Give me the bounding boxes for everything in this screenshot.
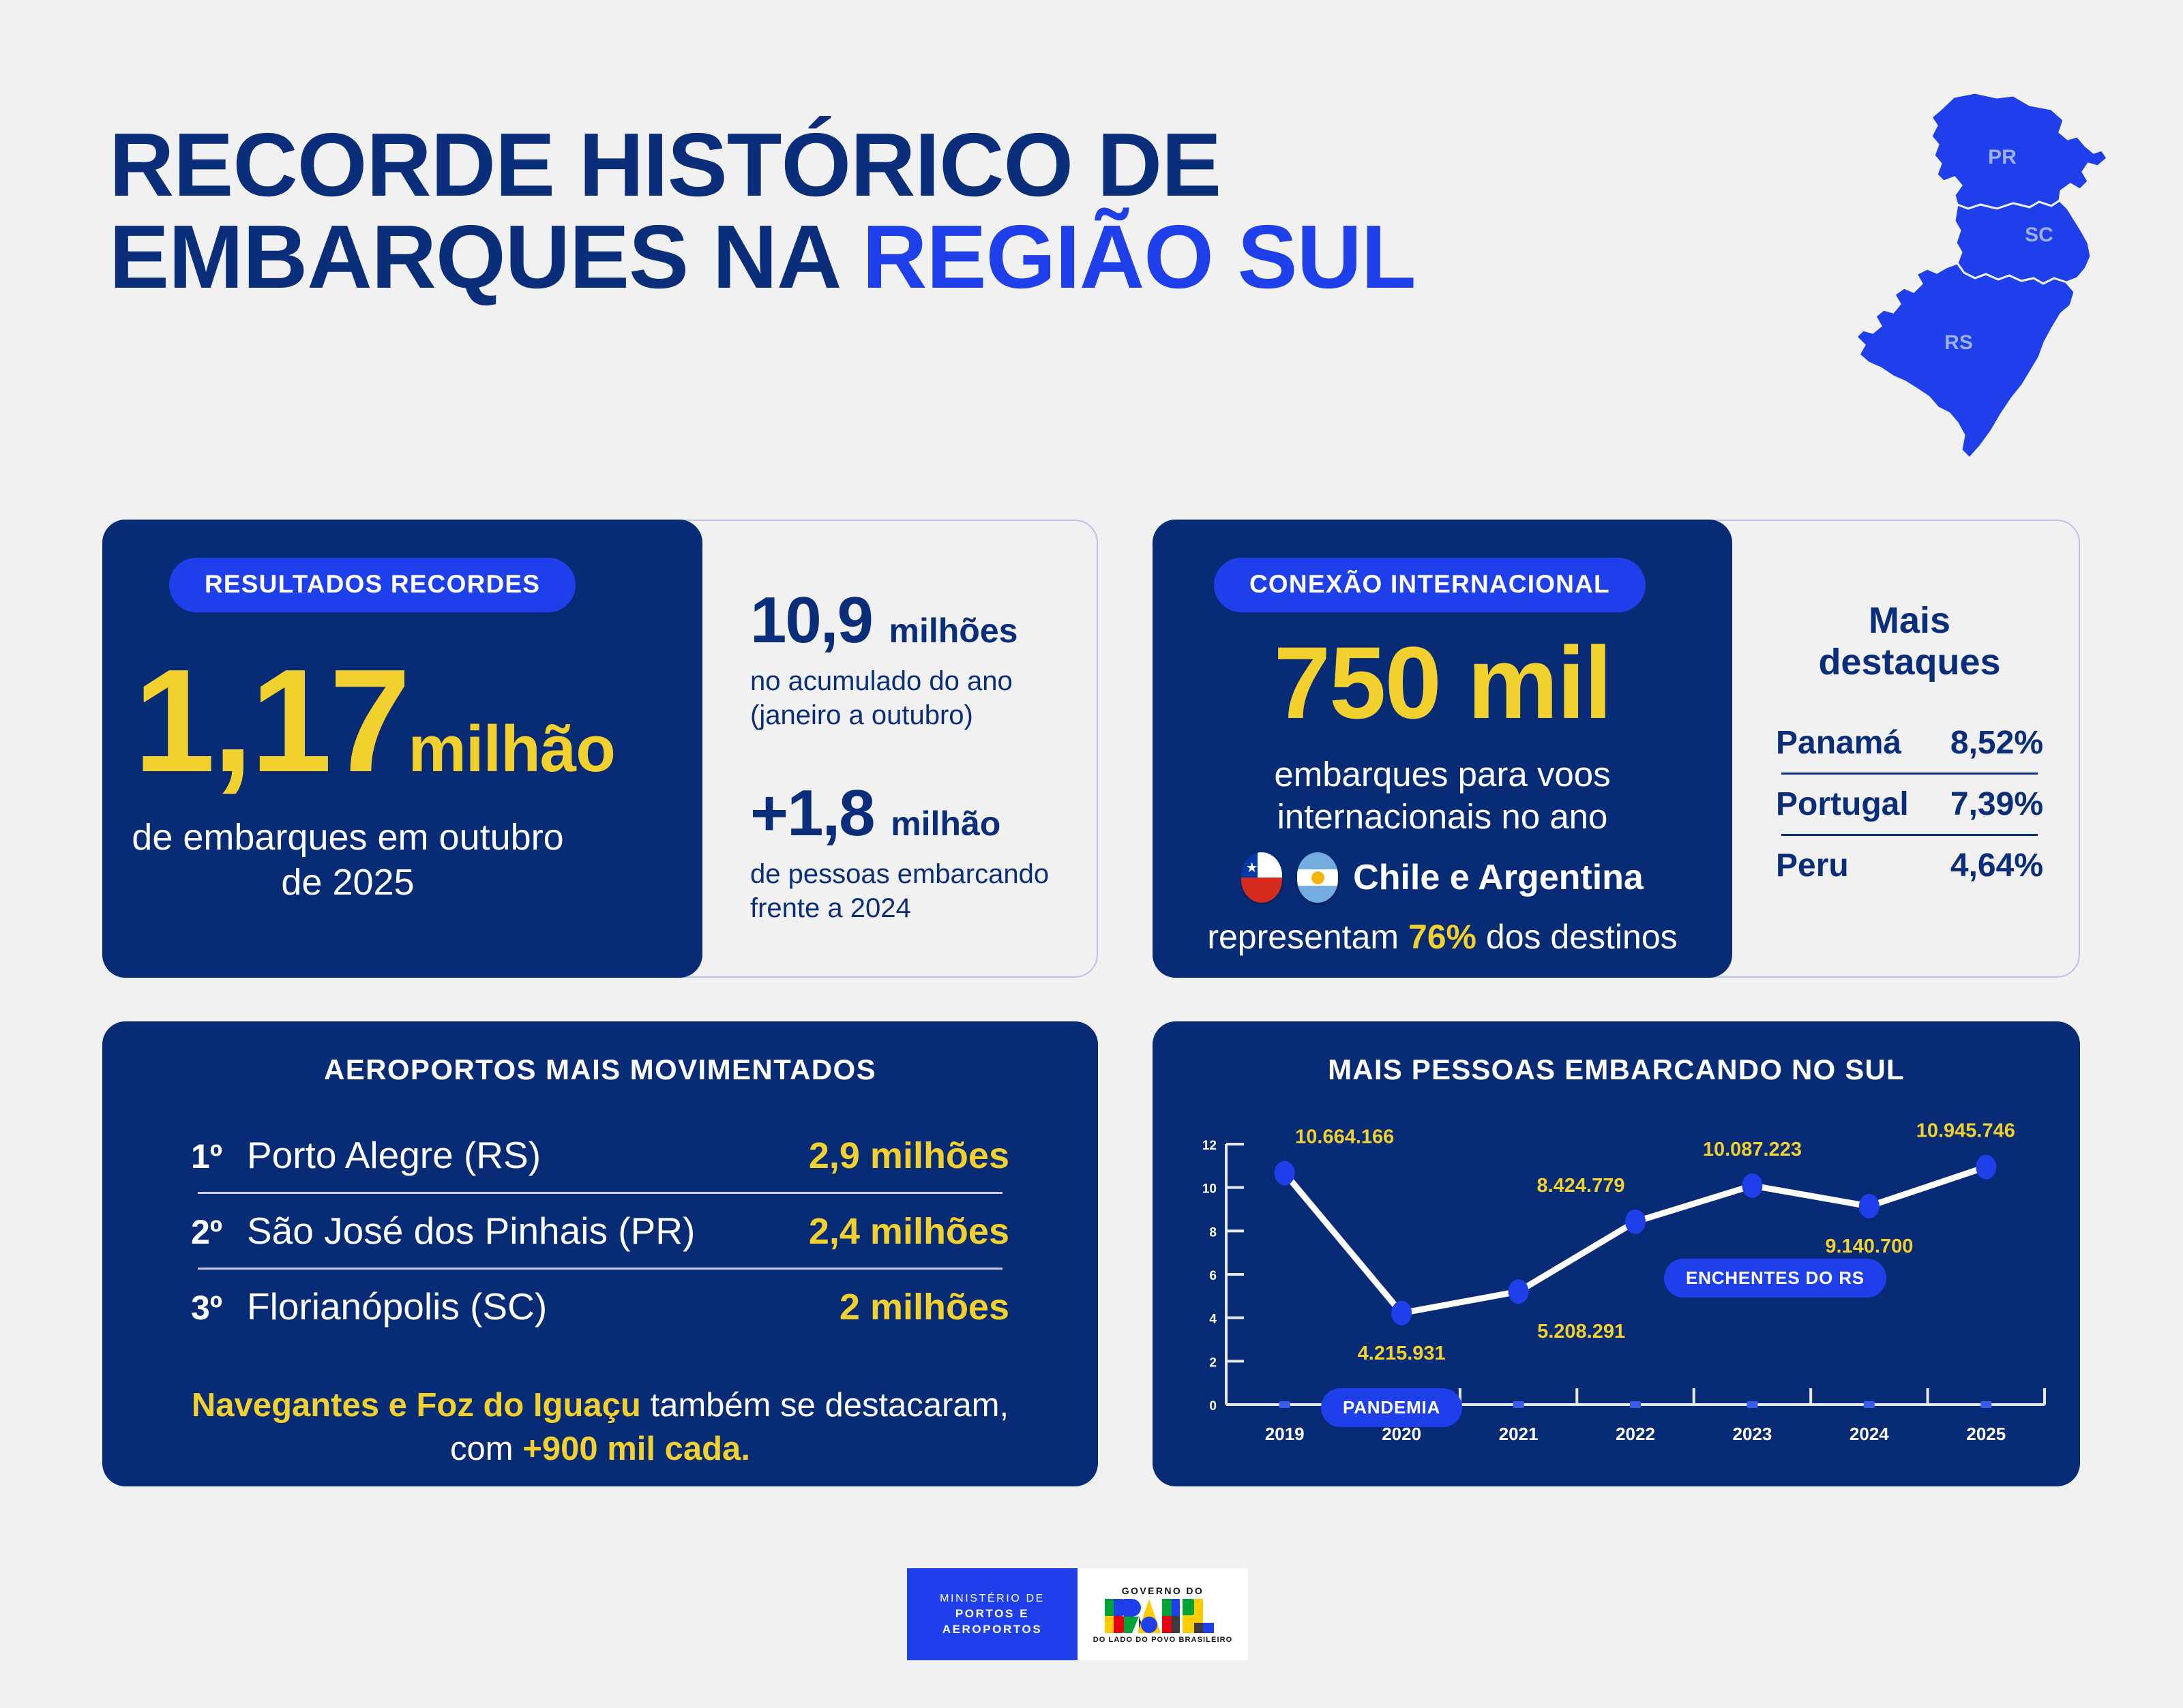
map-svg: PR SC RS — [1835, 82, 2148, 477]
chart-data-point — [1391, 1301, 1412, 1325]
chart-x-tick-label: 2021 — [1499, 1424, 1539, 1444]
aeroporto-value: 2,9 milhões — [809, 1135, 1009, 1177]
chart-y-axis: 024681012 — [1202, 1139, 1244, 1413]
chart-data-point — [1275, 1161, 1295, 1186]
chart-y-tick-label: 4 — [1209, 1313, 1217, 1327]
chart-data-label: 9.140.700 — [1825, 1235, 1913, 1257]
map-state-rs — [1856, 263, 2075, 458]
ministry-line-3: AEROPORTOS — [942, 1623, 1043, 1636]
chart-title: MAIS PESSOAS EMBARCANDO NO SUL — [1153, 1053, 2080, 1086]
resultados-headline-value: 1,17 — [134, 638, 408, 803]
aeroportos-note-hl2: +900 mil cada. — [522, 1430, 750, 1467]
ministry-line-1: MINISTÉRIO DE — [940, 1593, 1045, 1605]
argentina-flag-sun — [1311, 871, 1324, 884]
badge-conexao-internacional: CONEXÃO INTERNACIONAL — [1214, 558, 1646, 612]
stat-acumulado-value: 10,9 — [750, 584, 872, 657]
stat-acumulado: 10,9 milhões no acumulado do ano (janeir… — [750, 588, 1071, 733]
stat-crescimento-value-row: +1,8 milhão — [750, 781, 1071, 846]
aeroporto-rank: 1º — [191, 1137, 247, 1176]
aeroporto-row: 2º São José dos Pinhais (PR) 2,4 milhões — [191, 1194, 1009, 1268]
map-state-sc — [1955, 200, 2091, 284]
government-line-3: DO LADO DO POVO BRASILEIRO — [1093, 1636, 1233, 1644]
conexao-bottom-suffix: dos destinos — [1476, 918, 1678, 956]
brasil-wordmark-icon — [1105, 1599, 1221, 1633]
conexao-countries-label: Chile e Argentina — [1353, 857, 1644, 898]
chart-x-tick-label: 2023 — [1733, 1424, 1772, 1444]
badge-resultados-recordes: RESULTADOS RECORDES — [169, 558, 576, 612]
resultados-headline-desc: de embarques em outubro de 2025 — [130, 815, 566, 905]
chart-y-tick-label: 2 — [1209, 1355, 1217, 1370]
chart-y-tick-label: 10 — [1202, 1182, 1217, 1197]
destaque-row: Peru 4,64% — [1773, 839, 2046, 893]
aeroporto-name: Florianópolis (SC) — [247, 1285, 840, 1328]
destaque-row: Portugal 7,39% — [1773, 777, 2046, 831]
conexao-bottom-prefix: representam — [1207, 918, 1408, 956]
destaque-country: Peru — [1776, 847, 1849, 884]
mais-destaques-title: Mais destaques — [1773, 600, 2046, 683]
mais-destaques-panel: Mais destaques Panamá 8,52% Portugal 7,3… — [1773, 600, 2046, 893]
page-header: RECORDE HISTÓRICO DE EMBARQUES NA REGIÃO… — [109, 119, 1746, 303]
stat-acumulado-value-row: 10,9 milhões — [750, 588, 1071, 653]
resultados-headline-unit: milhão — [408, 713, 614, 785]
footer-logos: MINISTÉRIO DE PORTOS E AEROPORTOS GOVERN… — [907, 1568, 1248, 1660]
map-label-sc: SC — [2025, 224, 2053, 246]
argentina-flag-icon — [1297, 852, 1338, 903]
title-line-2: EMBARQUES NA REGIÃO SUL — [109, 211, 1746, 303]
chart-y-tick-label: 8 — [1209, 1225, 1217, 1240]
conexao-bottom-text: representam 76% dos destinos — [1153, 917, 1732, 957]
chart-plot-area: 024681012 2019202020212022202320242025 1… — [1187, 1111, 2066, 1452]
conexao-headline-desc-2: internacionais no ano — [1153, 796, 1732, 838]
conexao-bottom-highlight: 76% — [1408, 918, 1476, 956]
chart-x-tick-label: 2019 — [1265, 1424, 1305, 1444]
aeroporto-rank: 2º — [191, 1212, 247, 1252]
chart-data-point — [1509, 1279, 1529, 1304]
map-label-rs: RS — [1944, 331, 1973, 354]
stat-acumulado-desc: no acumulado do ano (janeiro a outubro) — [750, 664, 1071, 733]
stat-crescimento: +1,8 milhão de pessoas embarcando frente… — [750, 781, 1071, 926]
conexao-headline-desc-1: embarques para voos — [1153, 753, 1732, 796]
aeroporto-value: 2,4 milhões — [809, 1210, 1009, 1253]
aeroporto-rank: 3º — [191, 1288, 247, 1328]
chart-data-label: 5.208.291 — [1537, 1321, 1625, 1343]
mais-destaques-title-2: destaques — [1773, 642, 2046, 683]
chart-data-point — [1742, 1173, 1762, 1198]
government-logo: GOVERNO DO DO LADO — [1078, 1568, 1248, 1660]
aeroporto-name: São José dos Pinhais (PR) — [247, 1209, 809, 1253]
destaque-country: Panamá — [1776, 724, 1901, 762]
infographic-page: RECORDE HISTÓRICO DE EMBARQUES NA REGIÃO… — [0, 0, 2183, 1708]
chart-data-labels: 10.664.1664.215.9315.208.2918.424.77910.… — [1295, 1120, 2015, 1364]
mais-destaques-list: Panamá 8,52% Portugal 7,39% Peru 4,64% — [1773, 716, 2046, 893]
map-label-pr: PR — [1988, 146, 2017, 168]
conexao-countries-row: ★ Chile e Argentina — [1153, 852, 1732, 903]
stat-crescimento-desc: de pessoas embarcando frente a 2024 — [750, 857, 1071, 926]
chart-data-label: 10.945.746 — [1916, 1120, 2015, 1142]
chile-flag-icon: ★ — [1241, 852, 1282, 903]
chart-y-tick-label: 0 — [1209, 1399, 1217, 1413]
stat-acumulado-desc-1: no acumulado do ano — [750, 664, 1071, 698]
chart-data-label: 10.664.166 — [1295, 1126, 1394, 1148]
chart-x-tick-label: 2025 — [1966, 1424, 2006, 1444]
government-line-1: GOVERNO DO — [1122, 1585, 1204, 1596]
resultados-headline-number: 1,17milhão — [134, 651, 615, 790]
destaque-percent: 4,64% — [1950, 847, 2043, 884]
chart-data-label: 4.215.931 — [1358, 1343, 1446, 1364]
destaque-divider — [1781, 834, 2038, 836]
destaque-divider — [1781, 773, 2038, 775]
stat-acumulado-unit: milhões — [889, 612, 1018, 650]
chart-annotation-pandemia: PANDEMIA — [1321, 1388, 1462, 1427]
stat-acumulado-desc-2: (janeiro a outubro) — [750, 698, 1071, 732]
stat-crescimento-desc-1: de pessoas embarcando — [750, 857, 1071, 891]
destaque-row: Panamá 8,52% — [1773, 716, 2046, 770]
title-line-2-plain: EMBARQUES NA — [109, 207, 862, 307]
line-chart-svg: 024681012 2019202020212022202320242025 1… — [1187, 1111, 2066, 1452]
aeroporto-value: 2 milhões — [840, 1286, 1009, 1328]
aeroportos-title: AEROPORTOS MAIS MOVIMENTADOS — [102, 1053, 1098, 1086]
chile-flag-white-band — [1258, 852, 1282, 878]
ministry-logo: MINISTÉRIO DE PORTOS E AEROPORTOS — [907, 1568, 1078, 1660]
aeroporto-row: 3º Florianópolis (SC) 2 milhões — [191, 1270, 1009, 1343]
chile-flag-red-band — [1241, 878, 1282, 903]
chart-data-point — [1859, 1194, 1880, 1218]
destaque-country: Portugal — [1776, 785, 1909, 823]
conexao-headline-number: 750 mil — [1153, 634, 1732, 732]
page-title: RECORDE HISTÓRICO DE EMBARQUES NA REGIÃO… — [109, 119, 1746, 303]
destaque-percent: 8,52% — [1950, 724, 2043, 762]
map-state-pr — [1931, 93, 2107, 209]
destaque-percent: 7,39% — [1950, 785, 2043, 823]
argentina-flag-bottom-band — [1297, 886, 1338, 903]
chart-y-tick-label: 12 — [1202, 1139, 1217, 1153]
aeroporto-row: 1º Porto Alegre (RS) 2,9 milhões — [191, 1118, 1009, 1192]
chile-flag-star: ★ — [1246, 861, 1258, 875]
aeroporto-name: Porto Alegre (RS) — [247, 1133, 809, 1177]
ministry-line-2: PORTOS E — [955, 1607, 1029, 1621]
stat-spacer — [750, 733, 1071, 781]
chart-data-point — [1625, 1210, 1646, 1234]
aeroportos-note-hl1: Navegantes e Foz do Iguaçu — [192, 1387, 641, 1424]
conexao-headline-desc: embarques para voos internacionais no an… — [1153, 753, 1732, 838]
stat-crescimento-value: +1,8 — [750, 777, 874, 850]
chart-data-label: 8.424.779 — [1536, 1175, 1624, 1197]
title-line-2-accent: REGIÃO SUL — [862, 207, 1415, 307]
aeroportos-note: Navegantes e Foz do Iguaçu também se des… — [157, 1384, 1043, 1471]
title-line-1: RECORDE HISTÓRICO DE — [109, 119, 1746, 211]
mais-destaques-title-1: Mais — [1773, 600, 2046, 642]
argentina-flag-top-band — [1297, 852, 1338, 869]
resultados-secondary-stats: 10,9 milhões no acumulado do ano (janeir… — [750, 588, 1071, 926]
chart-x-tick-label: 2024 — [1850, 1424, 1889, 1444]
stat-crescimento-unit: milhão — [891, 805, 1000, 843]
south-region-map: PR SC RS — [1835, 82, 2148, 477]
chart-x-tick-label: 2022 — [1616, 1424, 1655, 1444]
chart-annotation-enchentes: ENCHENTES DO RS — [1664, 1259, 1886, 1298]
stat-crescimento-desc-2: frente a 2024 — [750, 891, 1071, 925]
chart-data-point — [1976, 1155, 1996, 1180]
aeroportos-list: 1º Porto Alegre (RS) 2,9 milhões 2º São … — [191, 1118, 1009, 1343]
chart-y-tick-label: 6 — [1209, 1269, 1217, 1283]
chart-data-label: 10.087.223 — [1703, 1139, 1802, 1160]
